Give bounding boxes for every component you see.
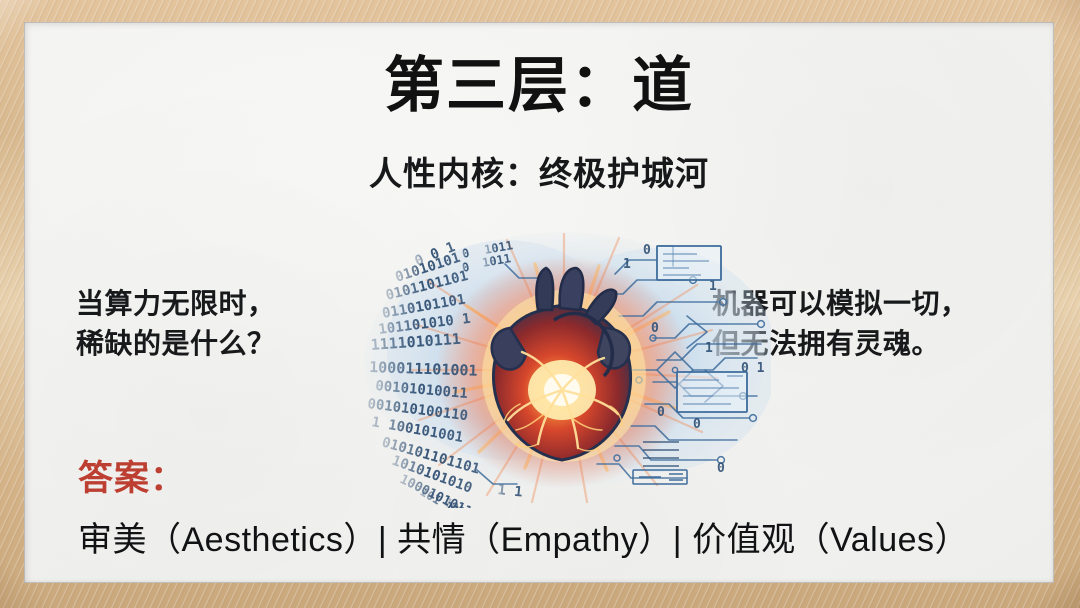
svg-text:1 1: 1 1	[497, 482, 524, 501]
svg-text:0: 0	[717, 461, 725, 476]
heart-illustration: 0 1011 1011 0 0 0 1 01010101 0101101101 …	[357, 220, 771, 508]
svg-text:0: 0	[643, 243, 651, 258]
framed-slide: 第三层：道 人性内核：终极护城河 当算力无限时， 稀缺的是什么？ 机器可以模拟一…	[0, 0, 1080, 608]
answer-text: 审美（Aesthetics）| 共情（Empathy）| 价值观（Values）	[78, 512, 1014, 561]
slide-canvas: 第三层：道 人性内核：终极护城河 当算力无限时， 稀缺的是什么？ 机器可以模拟一…	[24, 22, 1054, 583]
answer-label: 答案：	[78, 450, 186, 501]
svg-text:100011101001: 100011101001	[369, 358, 478, 380]
page-subtitle: 人性内核：终极护城河	[24, 147, 1054, 195]
svg-text:1: 1	[705, 341, 713, 356]
caption-left: 当算力无限时， 稀缺的是什么？	[76, 284, 366, 364]
svg-text:1: 1	[709, 279, 717, 294]
svg-text:0: 0	[693, 417, 701, 432]
svg-text:1: 1	[623, 257, 631, 272]
svg-text:0: 0	[651, 321, 659, 336]
page-title: 第三层：道	[24, 54, 1054, 117]
svg-text:0: 0	[657, 405, 665, 420]
